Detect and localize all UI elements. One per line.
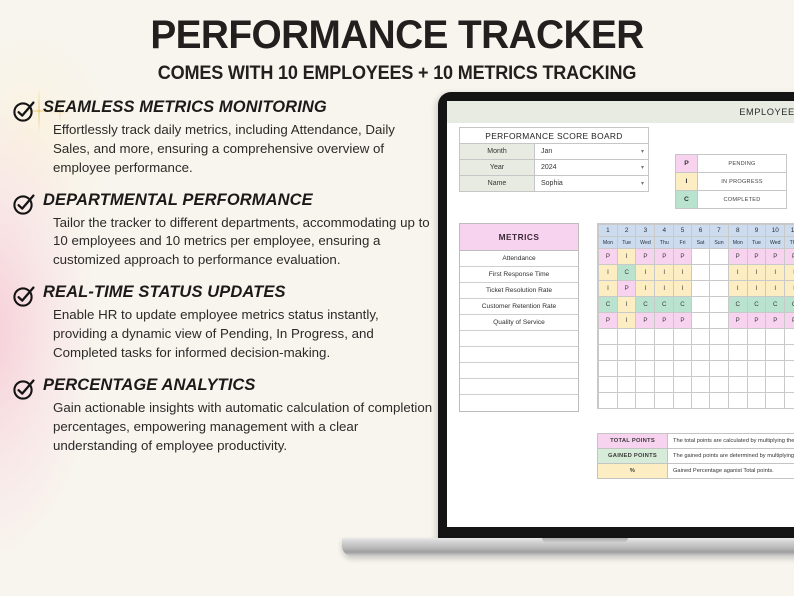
name-value: Sophia [541, 180, 563, 187]
day-name-header: Sat [691, 237, 709, 249]
status-cell[interactable] [599, 345, 618, 361]
feature-item: REAL-TIME STATUS UPDATES Enable HR to up… [12, 283, 437, 363]
spreadsheet-title: EMPLOYEE PERFORMA [739, 107, 794, 117]
metric-row[interactable] [460, 379, 578, 395]
status-cell[interactable] [691, 265, 709, 281]
legend-key-i: I [676, 173, 698, 190]
name-label: Name [460, 176, 535, 191]
status-cell[interactable]: P [785, 249, 794, 265]
score-board-title: PERFORMANCE SCORE BOARD [460, 128, 648, 144]
feature-body: Enable HR to update employee metrics sta… [43, 306, 435, 363]
laptop-lid: EMPLOYEE PERFORMA PERFORMANCE SCORE BOAR… [438, 92, 794, 539]
poster-root: PERFORMANCE TRACKER COMES WITH 10 EMPLOY… [0, 0, 794, 596]
status-cell[interactable] [766, 393, 785, 409]
feature-heading: REAL-TIME STATUS UPDATES [43, 283, 437, 302]
status-cell[interactable] [674, 329, 692, 345]
status-cell[interactable]: P [674, 313, 692, 329]
feature-item: PERCENTAGE ANALYTICS Gain actionable ins… [12, 376, 437, 456]
feature-body: Effortlessly track daily metrics, includ… [43, 121, 435, 178]
status-grid-row: ICIIIIIIII [599, 265, 794, 281]
metric-row[interactable]: Customer Retention Rate [460, 299, 578, 315]
status-cell[interactable]: C [766, 297, 785, 313]
status-cell[interactable] [747, 393, 766, 409]
status-cell[interactable]: P [636, 313, 655, 329]
metric-row[interactable]: Quality of Service [460, 315, 578, 331]
day-number-header: 3 [636, 225, 655, 237]
status-cell[interactable] [785, 393, 794, 409]
status-cell[interactable] [710, 249, 729, 265]
legend-row-completed: C COMPLETED [676, 191, 786, 209]
check-circle-icon [12, 283, 36, 308]
day-number-header: 10 [766, 225, 785, 237]
day-number-header: 7 [710, 225, 729, 237]
status-cell[interactable] [636, 377, 655, 393]
status-legend: P PENDING I IN PROGRESS C COMPLETED [675, 154, 787, 209]
day-name-header: Mon [728, 237, 747, 249]
status-cell[interactable] [674, 361, 692, 377]
status-cell[interactable]: P [747, 249, 766, 265]
status-cell[interactable] [710, 345, 729, 361]
status-cell[interactable] [674, 377, 692, 393]
legend-key-p: P [676, 155, 698, 172]
feature-heading: DEPARTMENTAL PERFORMANCE [43, 191, 437, 210]
status-cell[interactable] [691, 281, 709, 297]
status-cell[interactable] [691, 313, 709, 329]
status-cell[interactable]: I [728, 265, 747, 281]
status-cell[interactable] [747, 345, 766, 361]
status-cell[interactable] [710, 377, 729, 393]
status-cell[interactable] [691, 345, 709, 361]
legend-row-in-progress: I IN PROGRESS [676, 173, 786, 191]
status-cell[interactable] [655, 361, 674, 377]
status-grid-row: PIPPPPPPPP [599, 313, 794, 329]
feature-heading: SEAMLESS METRICS MONITORING [43, 98, 437, 117]
feature-body: Tailor the tracker to different departme… [43, 214, 435, 271]
status-cell[interactable]: I [617, 297, 636, 313]
status-cell[interactable] [655, 345, 674, 361]
status-cell[interactable] [766, 345, 785, 361]
status-grid-row: PIPPPPPPPP [599, 249, 794, 265]
status-cell[interactable] [691, 249, 709, 265]
status-cell[interactable] [617, 345, 636, 361]
status-cell[interactable]: P [728, 249, 747, 265]
status-grid-row: CICCCCCCCC [599, 297, 794, 313]
status-cell[interactable] [710, 393, 729, 409]
month-label: Month [460, 144, 535, 159]
status-grid: 1234567891011121314MonTueWedThuFriSatSun… [597, 223, 794, 409]
day-name-header: Tue [617, 237, 636, 249]
status-cell[interactable] [785, 345, 794, 361]
status-grid-row [599, 329, 794, 345]
status-cell[interactable]: I [655, 265, 674, 281]
note-key: % [598, 464, 668, 478]
status-cell[interactable]: P [636, 249, 655, 265]
status-cell[interactable] [691, 361, 709, 377]
year-select[interactable]: 2024 ▾ [535, 160, 648, 175]
month-value: Jan [541, 148, 552, 155]
day-number-header: 11 [785, 225, 794, 237]
status-grid-table: 1234567891011121314MonTueWedThuFriSatSun… [598, 224, 794, 409]
status-cell[interactable] [710, 361, 729, 377]
status-cell[interactable] [674, 345, 692, 361]
status-cell[interactable]: I [747, 281, 766, 297]
status-cell[interactable]: I [785, 281, 794, 297]
metric-row[interactable] [460, 363, 578, 379]
status-cell[interactable] [599, 361, 618, 377]
note-text: The gained points are determined by mult… [668, 449, 794, 463]
status-cell[interactable]: C [636, 297, 655, 313]
legend-row-pending: P PENDING [676, 155, 786, 173]
chevron-down-icon[interactable]: ▾ [641, 180, 644, 187]
status-cell[interactable]: I [766, 281, 785, 297]
status-cell[interactable]: I [599, 281, 618, 297]
day-name-header: Mon [599, 237, 618, 249]
note-text: The total points are calculated by multi… [668, 434, 794, 448]
status-cell[interactable] [766, 329, 785, 345]
status-cell[interactable]: I [747, 265, 766, 281]
check-circle-icon [12, 98, 36, 123]
status-cell[interactable] [636, 361, 655, 377]
status-cell[interactable] [785, 377, 794, 393]
status-cell[interactable] [710, 329, 729, 345]
laptop-mockup: EMPLOYEE PERFORMA PERFORMANCE SCORE BOAR… [438, 92, 794, 562]
laptop-base [342, 538, 794, 556]
status-cell[interactable]: I [728, 281, 747, 297]
day-name-header: Thu [785, 237, 794, 249]
status-cell[interactable] [710, 297, 729, 313]
day-name-header: Fri [674, 237, 692, 249]
feature-body: Gain actionable insights with automatic … [43, 399, 435, 456]
day-number-header: 6 [691, 225, 709, 237]
day-number-header: 1 [599, 225, 618, 237]
note-text: Gained Percentage aganist Total points. [668, 464, 794, 478]
status-cell[interactable]: I [785, 265, 794, 281]
status-cell[interactable] [636, 329, 655, 345]
status-cell[interactable]: P [674, 249, 692, 265]
page-title: PERFORMANCE TRACKER [12, 0, 782, 56]
status-cell[interactable]: C [747, 297, 766, 313]
status-cell[interactable] [617, 393, 636, 409]
status-cell[interactable]: I [655, 281, 674, 297]
status-cell[interactable] [691, 377, 709, 393]
status-grid-row [599, 361, 794, 377]
status-cell[interactable]: P [599, 249, 618, 265]
status-cell[interactable] [728, 377, 747, 393]
status-cell[interactable]: P [747, 313, 766, 329]
status-cell[interactable]: I [617, 313, 636, 329]
spreadsheet-titlebar: EMPLOYEE PERFORMA [447, 101, 794, 123]
year-value: 2024 [541, 164, 557, 171]
status-cell[interactable]: P [655, 249, 674, 265]
status-cell[interactable] [691, 297, 709, 313]
status-cell[interactable] [747, 377, 766, 393]
status-cell[interactable] [691, 329, 709, 345]
status-cell[interactable] [655, 393, 674, 409]
check-circle-icon [12, 191, 36, 216]
status-cell[interactable] [674, 393, 692, 409]
metrics-header: METRICS [460, 224, 578, 251]
status-cell[interactable]: P [617, 281, 636, 297]
status-cell[interactable] [785, 361, 794, 377]
status-cell[interactable] [747, 361, 766, 377]
note-key: GAINED POINTS [598, 449, 668, 463]
status-cell[interactable]: C [785, 297, 794, 313]
metric-row[interactable]: Attendance [460, 251, 578, 267]
status-cell[interactable]: I [674, 265, 692, 281]
status-cell[interactable]: C [728, 297, 747, 313]
note-row-gained-points: GAINED POINTS The gained points are dete… [598, 449, 794, 464]
year-label: Year [460, 160, 535, 175]
day-name-header: Wed [766, 237, 785, 249]
status-cell[interactable] [766, 361, 785, 377]
day-number-header: 9 [747, 225, 766, 237]
status-cell[interactable]: C [617, 265, 636, 281]
day-number-header: 5 [674, 225, 692, 237]
status-cell[interactable] [617, 377, 636, 393]
metric-row[interactable] [460, 331, 578, 347]
score-board-row-month: Month Jan ▾ [460, 144, 648, 160]
metrics-column: METRICS Attendance First Response Time T… [459, 223, 579, 412]
status-cell[interactable]: I [766, 265, 785, 281]
note-row-percentage: % Gained Percentage aganist Total points… [598, 464, 794, 479]
spreadsheet-body: PERFORMANCE SCORE BOARD Month Jan ▾ Year [447, 123, 794, 527]
status-cell[interactable]: C [655, 297, 674, 313]
feature-item: SEAMLESS METRICS MONITORING Effortlessly… [12, 98, 437, 178]
laptop-screen: EMPLOYEE PERFORMA PERFORMANCE SCORE BOAR… [447, 101, 794, 527]
status-cell[interactable] [747, 329, 766, 345]
chevron-down-icon[interactable]: ▾ [641, 164, 644, 171]
status-cell[interactable] [728, 361, 747, 377]
score-board-row-year: Year 2024 ▾ [460, 160, 648, 176]
page-subtitle: COMES WITH 10 EMPLOYEES + 10 METRICS TRA… [20, 63, 774, 85]
poster-header: PERFORMANCE TRACKER COMES WITH 10 EMPLOY… [0, 0, 794, 85]
status-cell[interactable] [691, 393, 709, 409]
status-cell[interactable] [728, 393, 747, 409]
status-cell[interactable]: P [785, 313, 794, 329]
status-cell[interactable] [599, 377, 618, 393]
feature-item: DEPARTMENTAL PERFORMANCE Tailor the trac… [12, 191, 437, 271]
feature-list: SEAMLESS METRICS MONITORING Effortlessly… [12, 98, 437, 455]
status-cell[interactable] [728, 329, 747, 345]
status-cell[interactable]: I [674, 281, 692, 297]
legend-key-c: C [676, 191, 698, 208]
status-cell[interactable]: P [599, 313, 618, 329]
metric-row[interactable]: Ticket Resolution Rate [460, 283, 578, 299]
note-row-total-points: TOTAL POINTS The total points are calcul… [598, 434, 794, 449]
status-cell[interactable] [599, 393, 618, 409]
day-name-header: Thu [655, 237, 674, 249]
status-cell[interactable] [710, 265, 729, 281]
status-cell[interactable] [636, 393, 655, 409]
status-cell[interactable]: P [728, 313, 747, 329]
status-cell[interactable] [617, 361, 636, 377]
legend-label-pending: PENDING [698, 155, 786, 172]
status-cell[interactable] [655, 329, 674, 345]
status-cell[interactable] [728, 345, 747, 361]
performance-score-board: PERFORMANCE SCORE BOARD Month Jan ▾ Year [459, 127, 649, 192]
legend-label-completed: COMPLETED [698, 191, 786, 208]
day-number-header: 8 [728, 225, 747, 237]
status-cell[interactable] [599, 329, 618, 345]
day-number-header: 4 [655, 225, 674, 237]
status-cell[interactable]: P [655, 313, 674, 329]
status-grid-row [599, 377, 794, 393]
score-board-row-name: Name Sophia ▾ [460, 176, 648, 192]
status-cell[interactable] [617, 329, 636, 345]
day-name-header: Tue [747, 237, 766, 249]
notes-table: TOTAL POINTS The total points are calcul… [597, 433, 794, 479]
metric-row[interactable] [460, 395, 578, 411]
status-cell[interactable] [766, 377, 785, 393]
status-cell[interactable]: P [766, 249, 785, 265]
status-cell[interactable]: C [599, 297, 618, 313]
status-grid-row [599, 345, 794, 361]
status-cell[interactable] [655, 377, 674, 393]
note-key: TOTAL POINTS [598, 434, 668, 448]
metric-row[interactable] [460, 347, 578, 363]
status-cell[interactable] [710, 281, 729, 297]
status-cell[interactable]: I [636, 281, 655, 297]
month-select[interactable]: Jan ▾ [535, 144, 648, 159]
check-circle-icon [12, 376, 36, 401]
status-cell[interactable]: I [636, 265, 655, 281]
status-grid-row [599, 393, 794, 409]
metric-row[interactable]: First Response Time [460, 267, 578, 283]
status-cell[interactable]: C [674, 297, 692, 313]
day-number-header: 2 [617, 225, 636, 237]
name-select[interactable]: Sophia ▾ [535, 176, 648, 191]
feature-heading: PERCENTAGE ANALYTICS [43, 376, 437, 395]
status-cell[interactable]: P [766, 313, 785, 329]
status-cell[interactable]: I [599, 265, 618, 281]
status-cell[interactable] [710, 313, 729, 329]
status-cell[interactable] [785, 329, 794, 345]
status-cell[interactable] [636, 345, 655, 361]
day-name-header: Wed [636, 237, 655, 249]
day-name-header: Sun [710, 237, 729, 249]
status-grid-row: IPIIIIIIII [599, 281, 794, 297]
legend-label-in-progress: IN PROGRESS [698, 173, 786, 190]
status-cell[interactable]: I [617, 249, 636, 265]
chevron-down-icon[interactable]: ▾ [641, 148, 644, 155]
